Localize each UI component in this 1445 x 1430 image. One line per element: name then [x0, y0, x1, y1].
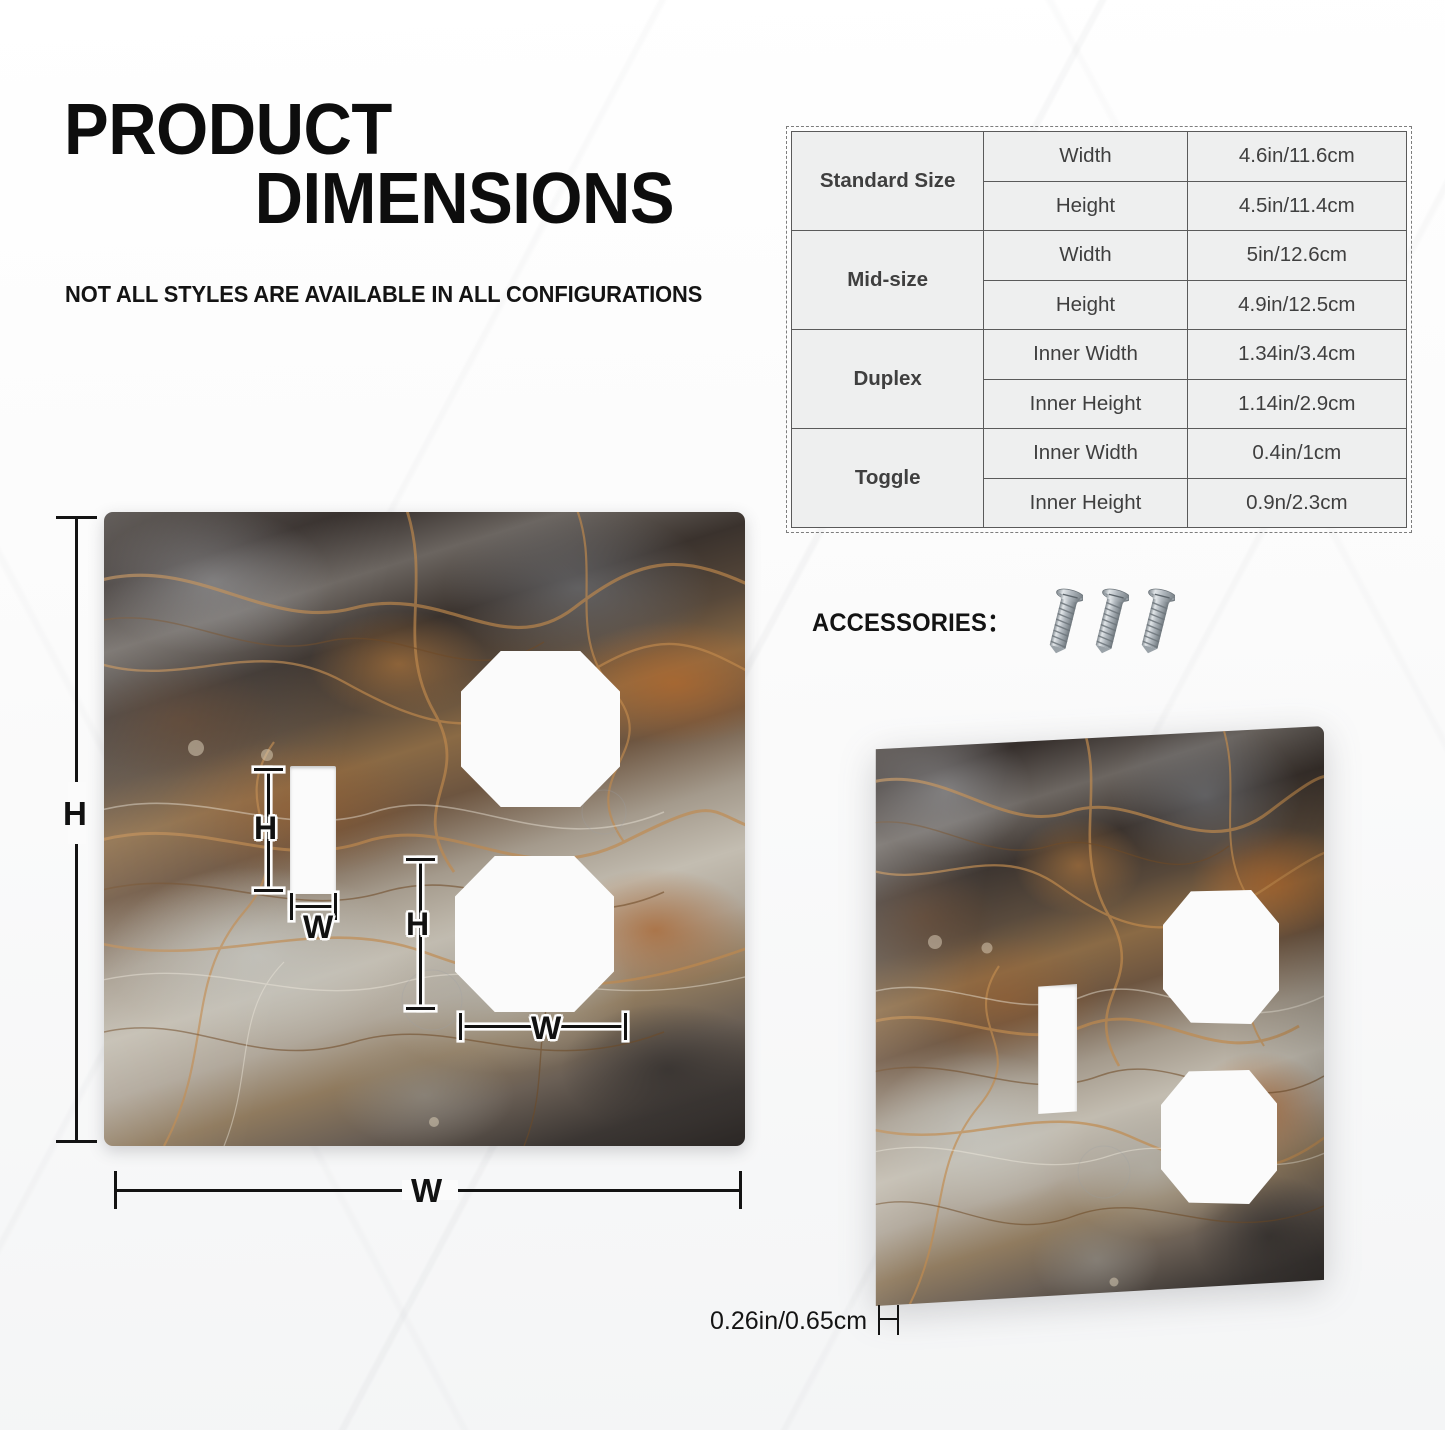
outer-height-cap-bottom — [56, 1140, 97, 1143]
spec-dimension: Width — [984, 231, 1187, 281]
spec-dimension: Inner Width — [984, 330, 1187, 380]
title-line-product: PRODUCT — [64, 96, 715, 165]
duplex-inner-width-label: W — [531, 1012, 561, 1044]
plate-gloss — [104, 512, 745, 1146]
toggle-height-cap-bottom — [254, 889, 283, 892]
outer-width-cap-left — [114, 1171, 117, 1209]
spec-dimension: Inner Height — [984, 379, 1187, 429]
page-title: PRODUCT DIMENSIONS — [64, 96, 764, 234]
accessories-section: ACCESSORIES： — [812, 582, 1175, 660]
outer-width-label: W — [411, 1172, 442, 1210]
angled-wall-plate — [869, 726, 1324, 1306]
screw-icon — [1045, 582, 1083, 660]
spec-value: 0.4in/1cm — [1187, 429, 1406, 479]
toggle-width-cap-right — [334, 893, 337, 920]
duplex-receptacle-cutout-bottom — [455, 856, 614, 1012]
toggle-width-line — [290, 905, 337, 908]
duplex-height-cap-top — [406, 858, 435, 861]
spec-grid: Standard Size Width 4.6in/11.6cm Height … — [791, 131, 1407, 528]
duplex-inner-height-label: H — [406, 908, 429, 940]
outer-width-cap-right — [739, 1171, 742, 1209]
specifications-table: Standard Size Width 4.6in/11.6cm Height … — [786, 126, 1412, 533]
toggle-slot-cutout-angled — [1037, 984, 1077, 1114]
screw-group — [1045, 582, 1175, 660]
spec-value: 4.6in/11.6cm — [1187, 132, 1406, 182]
spec-value: 4.9in/12.5cm — [1187, 280, 1406, 330]
screw-icon — [1137, 582, 1175, 660]
spec-category: Toggle — [792, 429, 984, 528]
duplex-width-cap-right — [624, 1013, 627, 1040]
table-row: Toggle Inner Width 0.4in/1cm — [792, 429, 1407, 479]
thickness-label: 0.26in/0.65cm — [710, 1307, 867, 1336]
spec-category: Mid-size — [792, 231, 984, 330]
spec-dimension: Inner Width — [984, 429, 1187, 479]
toggle-width-cap-left — [290, 893, 293, 920]
thickness-caliper-bar — [878, 1318, 899, 1320]
duplex-height-cap-bottom — [406, 1007, 435, 1010]
spec-dimension: Inner Height — [984, 478, 1187, 528]
main-wall-plate — [104, 512, 745, 1146]
spec-dimension: Height — [984, 280, 1187, 330]
outer-height-label: H — [63, 795, 87, 833]
subtitle-note: NOT ALL STYLES ARE AVAILABLE IN ALL CONF… — [65, 281, 702, 308]
spec-value: 0.9n/2.3cm — [1187, 478, 1406, 528]
infographic-canvas: PRODUCT DIMENSIONS NOT ALL STYLES ARE AV… — [0, 0, 1445, 1430]
spec-dimension: Height — [984, 181, 1187, 231]
spec-value: 1.34in/3.4cm — [1187, 330, 1406, 380]
table-row: Mid-size Width 5in/12.6cm — [792, 231, 1407, 281]
toggle-inner-height-label: H — [254, 812, 277, 844]
marble-veining — [104, 512, 745, 1146]
toggle-height-cap-top — [254, 768, 283, 771]
outer-height-cap-top — [56, 516, 97, 519]
spec-dimension: Width — [984, 132, 1187, 182]
spec-category: Standard Size — [792, 132, 984, 231]
spec-value: 1.14in/2.9cm — [1187, 379, 1406, 429]
table-row: Standard Size Width 4.6in/11.6cm — [792, 132, 1407, 182]
duplex-receptacle-cutout-angled-bottom — [1161, 1070, 1277, 1204]
duplex-receptacle-cutout-angled-top — [1163, 890, 1279, 1024]
spec-value: 5in/12.6cm — [1187, 231, 1406, 281]
duplex-receptacle-cutout-top — [461, 651, 620, 807]
spec-value: 4.5in/11.4cm — [1187, 181, 1406, 231]
duplex-width-cap-left — [459, 1013, 462, 1040]
toggle-inner-width-label: W — [303, 911, 333, 943]
table-row: Duplex Inner Width 1.34in/3.4cm — [792, 330, 1407, 380]
accessories-label: ACCESSORIES： — [812, 603, 1011, 639]
screw-icon — [1091, 582, 1129, 660]
toggle-slot-cutout — [290, 766, 336, 894]
spec-category: Duplex — [792, 330, 984, 429]
title-line-dimensions: DIMENSIONS — [64, 165, 715, 234]
